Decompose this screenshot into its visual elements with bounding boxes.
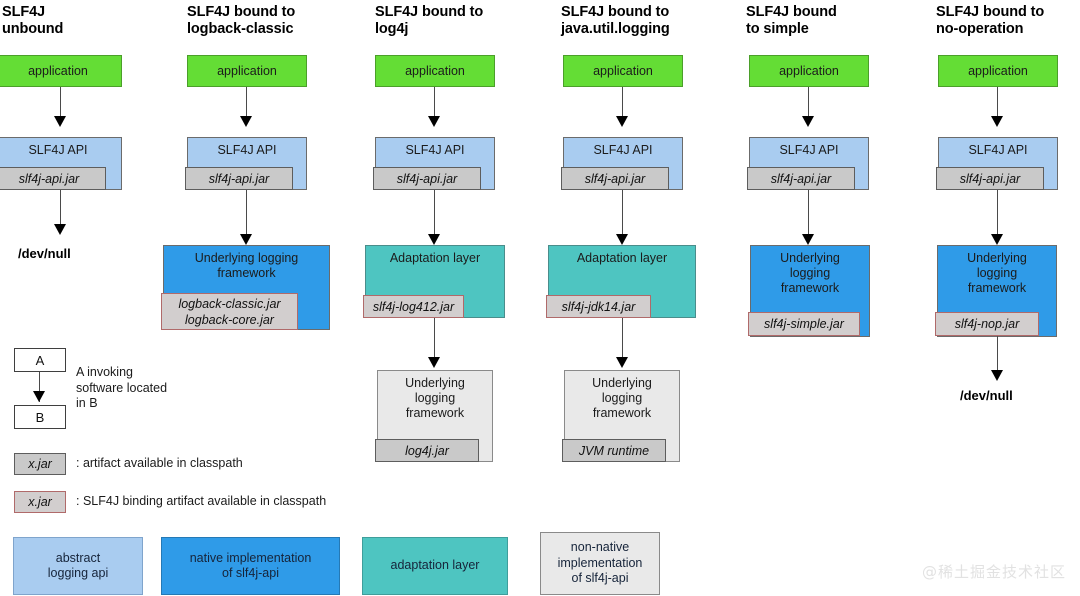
simple-arrow-2-line bbox=[808, 190, 809, 238]
log4j-application-box: application bbox=[375, 55, 495, 87]
legend-swatch-adaptation-layer: adaptation layer bbox=[362, 537, 508, 595]
jul-arrow-1-line bbox=[622, 87, 623, 119]
unbound-application-box: application bbox=[0, 55, 122, 87]
diagram-canvas: SLF4J unbound SLF4J bound to logback-cla… bbox=[0, 0, 1080, 596]
logback-arrow-2-line bbox=[246, 190, 247, 238]
logback-binding-jars: logback-classic.jar logback-core.jar bbox=[161, 293, 298, 330]
nop-arrow-2-head bbox=[991, 234, 1003, 245]
nop-slf4j-api-label: SLF4J API bbox=[939, 138, 1057, 158]
legend-binding-description: : SLF4J binding artifact available in cl… bbox=[76, 494, 436, 510]
nop-arrow-1-line bbox=[997, 87, 998, 119]
jul-slf4j-api-label: SLF4J API bbox=[564, 138, 682, 158]
legend-arrow-head bbox=[33, 391, 45, 402]
simple-arrow-1-line bbox=[808, 87, 809, 119]
log4j-arrow-1-line bbox=[434, 87, 435, 119]
simple-slf4j-api-label: SLF4J API bbox=[750, 138, 868, 158]
log4j-binding-jar: slf4j-log412.jar bbox=[363, 295, 464, 318]
simple-application-box: application bbox=[749, 55, 869, 87]
watermark: @稀土掘金技术社区 bbox=[922, 561, 1066, 582]
jul-application-box: application bbox=[563, 55, 683, 87]
jul-arrow-3-line bbox=[622, 318, 623, 362]
logback-slf4j-api-label: SLF4J API bbox=[188, 138, 306, 158]
logback-application-label: application bbox=[188, 64, 306, 79]
log4j-arrow-1-head bbox=[428, 116, 440, 127]
nop-underlying-framework-label: Underlying logging framework bbox=[938, 246, 1056, 296]
log4j-arrow-3-line bbox=[434, 318, 435, 362]
simple-slf4j-api-jar: slf4j-api.jar bbox=[747, 167, 855, 190]
unbound-arrow-1-line bbox=[60, 87, 61, 119]
simple-application-label: application bbox=[750, 64, 868, 79]
nop-devnull-label: /dev/null bbox=[960, 388, 1013, 403]
jul-slf4j-api-jar: slf4j-api.jar bbox=[561, 167, 669, 190]
column-title-no-operation: SLF4J bound to no-operation bbox=[936, 4, 1080, 38]
nop-slf4j-api-jar: slf4j-api.jar bbox=[936, 167, 1044, 190]
column-title-logback-classic: SLF4J bound to logback-classic bbox=[187, 4, 357, 38]
logback-arrow-1-line bbox=[246, 87, 247, 119]
nop-arrow-1-head bbox=[991, 116, 1003, 127]
jul-application-label: application bbox=[564, 64, 682, 79]
log4j-arrow-2-head bbox=[428, 234, 440, 245]
column-title-log4j: SLF4J bound to log4j bbox=[375, 4, 545, 38]
column-title-java-util-logging: SLF4J bound to java.util.logging bbox=[561, 4, 741, 38]
jul-artifact-jar: JVM runtime bbox=[562, 439, 666, 462]
nop-arrow-3-head bbox=[991, 370, 1003, 381]
legend-binding-chip: x.jar bbox=[14, 491, 66, 513]
legend-node-b: B bbox=[14, 405, 66, 429]
simple-arrow-2-head bbox=[802, 234, 814, 245]
simple-arrow-1-head bbox=[802, 116, 814, 127]
nop-binding-jar: slf4j-nop.jar bbox=[935, 312, 1039, 336]
legend-swatch-native-implementation: native implementation of slf4j-api bbox=[161, 537, 340, 595]
log4j-slf4j-api-label: SLF4J API bbox=[376, 138, 494, 158]
simple-binding-jar: slf4j-simple.jar bbox=[748, 312, 860, 336]
legend-artifact-description: : artifact available in classpath bbox=[76, 456, 376, 472]
unbound-slf4j-api-jar: slf4j-api.jar bbox=[0, 167, 106, 190]
nop-arrow-2-line bbox=[997, 190, 998, 238]
jul-arrow-2-head bbox=[616, 234, 628, 245]
logback-arrow-2-head bbox=[240, 234, 252, 245]
unbound-arrow-1-head bbox=[54, 116, 66, 127]
log4j-slf4j-api-jar: slf4j-api.jar bbox=[373, 167, 481, 190]
simple-underlying-framework-label: Underlying logging framework bbox=[751, 246, 869, 296]
jul-arrow-1-head bbox=[616, 116, 628, 127]
jul-arrow-3-head bbox=[616, 357, 628, 368]
jul-arrow-2-line bbox=[622, 190, 623, 238]
logback-application-box: application bbox=[187, 55, 307, 87]
legend-node-a: A bbox=[14, 348, 66, 372]
column-title-simple: SLF4J bound to simple bbox=[746, 4, 906, 38]
unbound-arrow-2-head bbox=[54, 224, 66, 235]
unbound-devnull-label: /dev/null bbox=[18, 246, 71, 261]
logback-arrow-1-head bbox=[240, 116, 252, 127]
unbound-slf4j-api-label: SLF4J API bbox=[0, 138, 121, 158]
nop-application-label: application bbox=[939, 64, 1057, 79]
jul-adaptation-layer-label: Adaptation layer bbox=[549, 246, 695, 266]
logback-slf4j-api-jar: slf4j-api.jar bbox=[185, 167, 293, 190]
jul-underlying-framework-label: Underlying logging framework bbox=[565, 371, 679, 421]
log4j-arrow-3-head bbox=[428, 357, 440, 368]
legend-swatch-abstract-logging-api: abstract logging api bbox=[13, 537, 143, 595]
legend-swatch-non-native-implementation: non-native implementation of slf4j-api bbox=[540, 532, 660, 595]
log4j-application-label: application bbox=[376, 64, 494, 79]
legend-artifact-chip: x.jar bbox=[14, 453, 66, 475]
nop-arrow-3-line bbox=[997, 336, 998, 374]
logback-underlying-framework-label: Underlying logging framework bbox=[164, 246, 329, 281]
log4j-adaptation-layer-label: Adaptation layer bbox=[366, 246, 504, 266]
log4j-artifact-jar: log4j.jar bbox=[375, 439, 479, 462]
log4j-arrow-2-line bbox=[434, 190, 435, 238]
jul-binding-jar: slf4j-jdk14.jar bbox=[546, 295, 651, 318]
legend-invocation-description: A invoking software located in B bbox=[76, 365, 216, 412]
column-title-unbound: SLF4J unbound bbox=[2, 4, 152, 38]
unbound-arrow-2-line bbox=[60, 190, 61, 228]
log4j-underlying-framework-label: Underlying logging framework bbox=[378, 371, 492, 421]
unbound-application-label: application bbox=[0, 64, 121, 79]
nop-application-box: application bbox=[938, 55, 1058, 87]
